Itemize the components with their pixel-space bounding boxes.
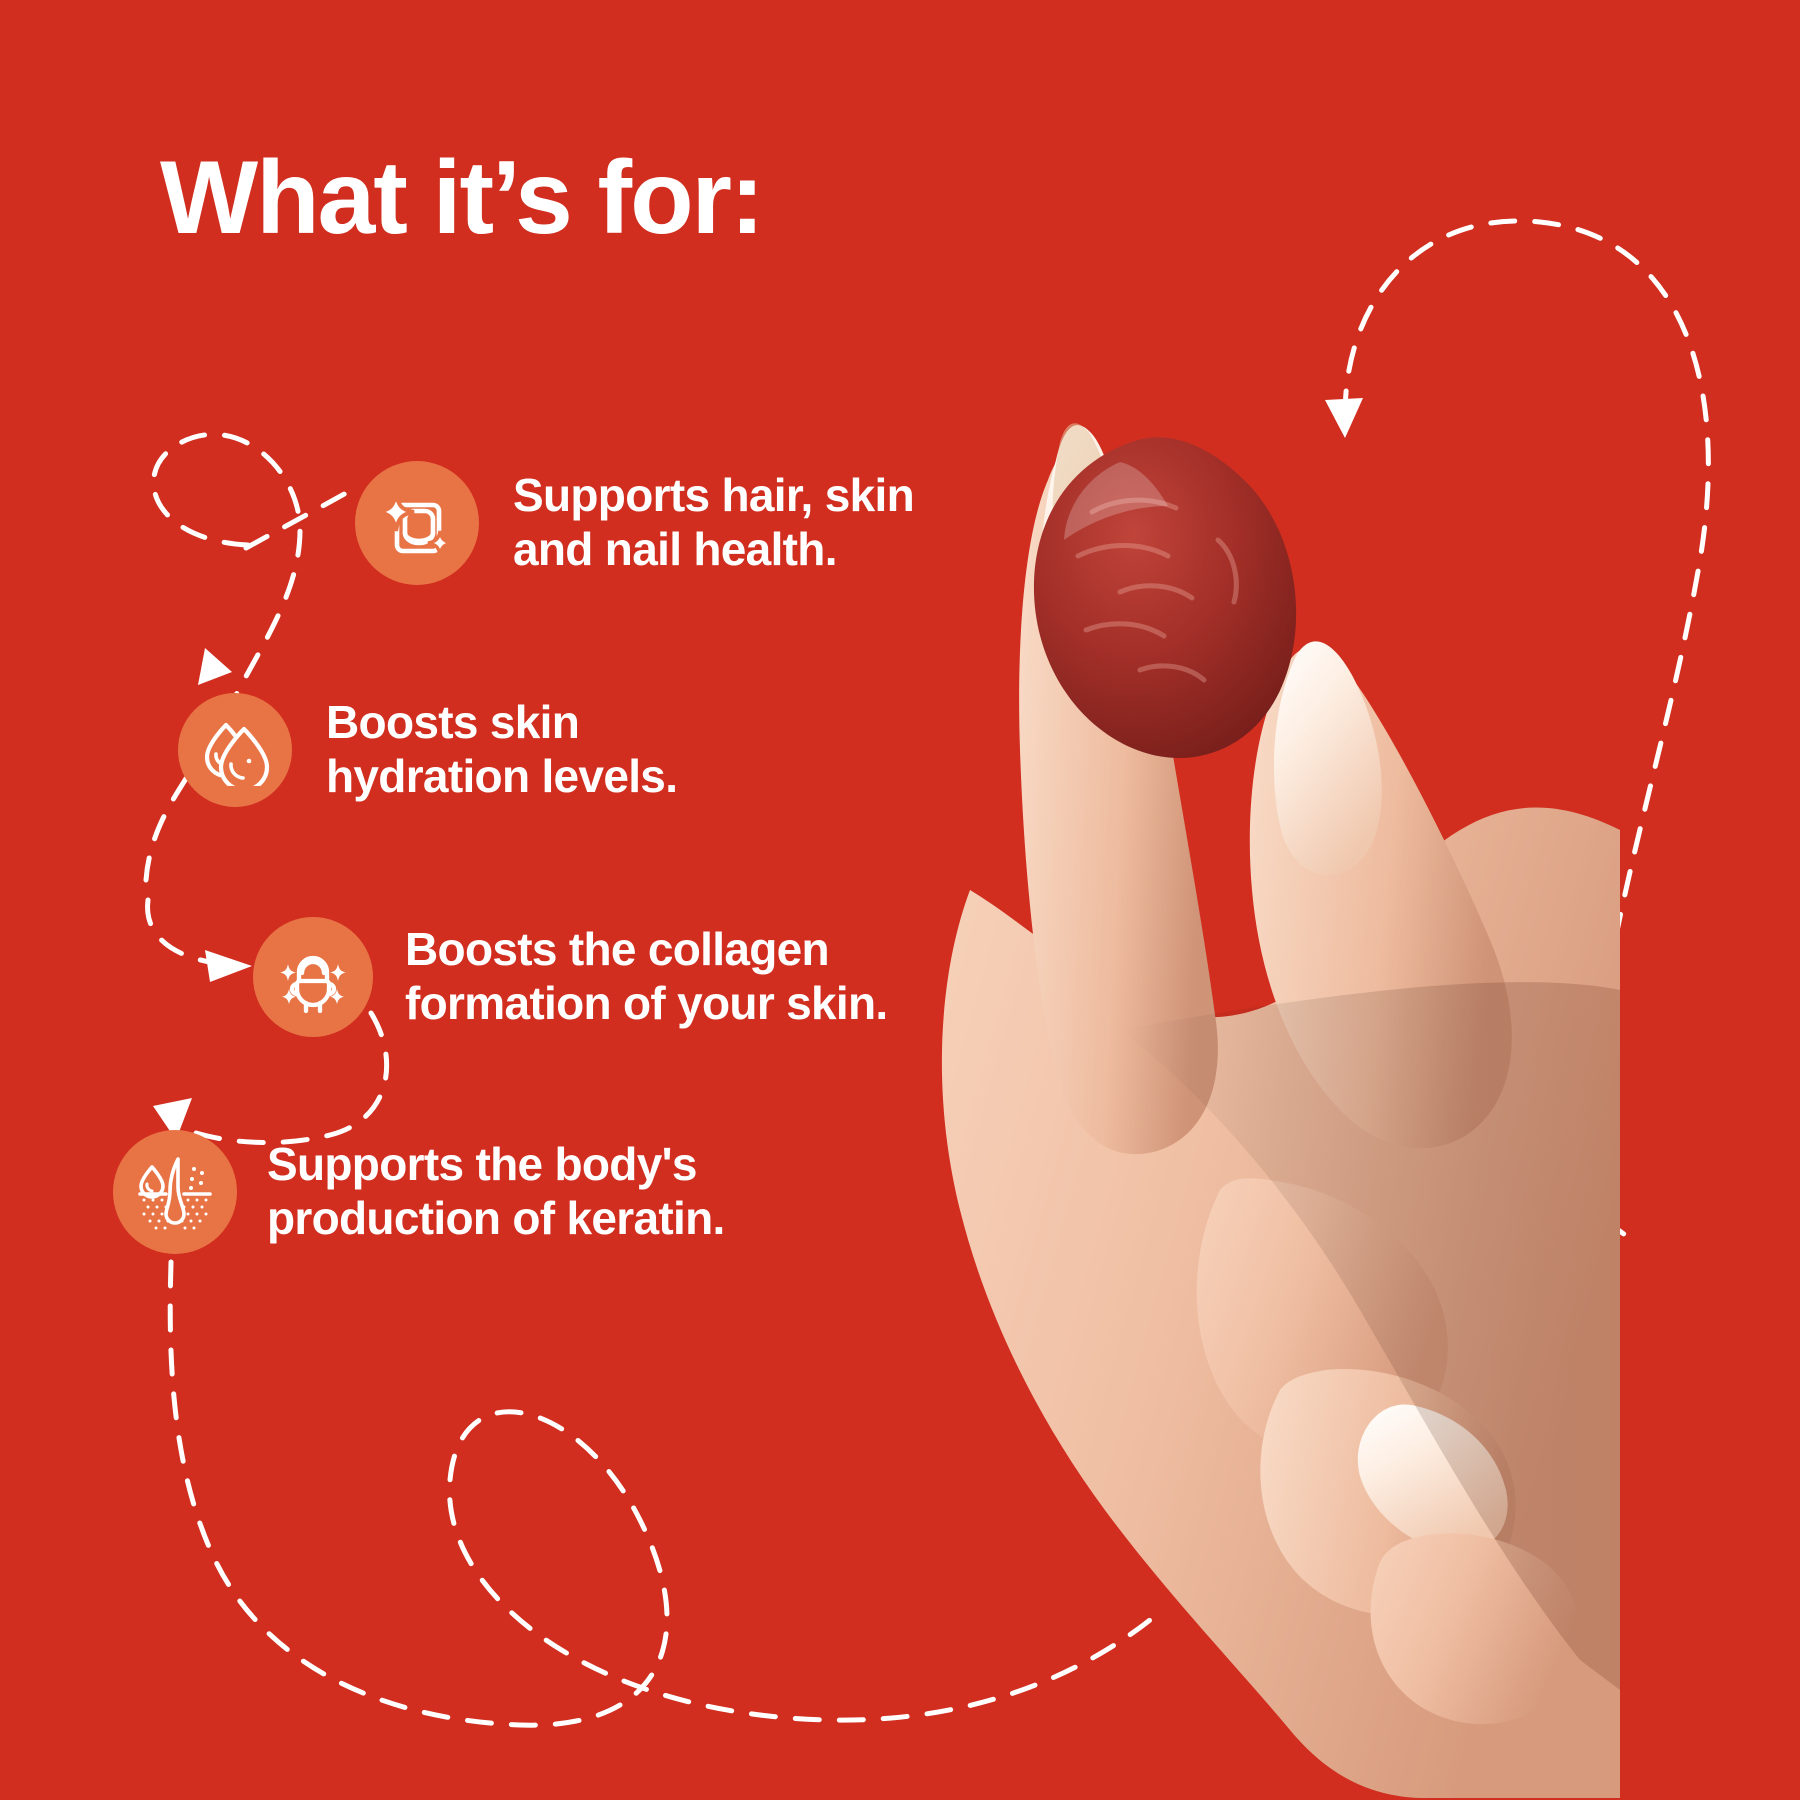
page-title: What it’s for: <box>160 146 763 250</box>
pinky-finger <box>1371 1533 1581 1724</box>
dashed-path-bottom-loop <box>170 1262 1150 1725</box>
sparkle-dots <box>189 1167 204 1190</box>
dashed-connector-lines <box>0 0 1800 1800</box>
feature-label: Supports hair, skin and nail health. <box>513 469 914 577</box>
arrow-head-top-right <box>1325 398 1363 438</box>
feature-label: Boosts skin hydration levels. <box>326 696 677 804</box>
feature-label: Supports the body's production of kerati… <box>267 1138 725 1246</box>
dashed-path-to-icon-3 <box>148 900 215 963</box>
dashed-path-to-icon-1 <box>246 492 348 548</box>
arrow-head-icon-2 <box>198 648 232 685</box>
thumb-nail <box>1274 641 1382 875</box>
ring-fingernail <box>1358 1405 1508 1553</box>
ring-finger <box>1260 1369 1515 1615</box>
middle-finger <box>1197 1178 1448 1461</box>
feature-label: Boosts the collagen formation of your sk… <box>405 923 888 1031</box>
red-gummy-supplement <box>1034 437 1296 758</box>
hair-follicle-icon <box>113 1130 237 1254</box>
feature-row: Supports the body's production of kerati… <box>113 1130 725 1254</box>
nail-sparkle-icon <box>355 461 479 585</box>
dermis-dots <box>143 1199 208 1230</box>
index-fingernail <box>1040 425 1129 679</box>
hand-holding-gummy-photo <box>820 330 1620 1800</box>
sparkles <box>280 964 346 1004</box>
gummy-highlight <box>1064 462 1168 540</box>
sparkle-large <box>379 493 414 531</box>
feature-row: Supports hair, skin and nail health. <box>355 461 914 585</box>
arrow-head-icon-3 <box>205 950 252 982</box>
water-droplets-icon <box>178 693 292 807</box>
thumb <box>1250 647 1512 1148</box>
dashed-path-loop-1 <box>154 434 300 720</box>
index-finger <box>1019 442 1218 1154</box>
face-sparkle-icon <box>253 917 373 1037</box>
dashed-path-right-loop <box>1345 221 1708 1240</box>
marketing-graphic-canvas: What it’s for: Supports hair, skin and n… <box>0 0 1800 1800</box>
feature-row: Boosts skin hydration levels. <box>178 693 677 807</box>
feature-row: Boosts the collagen formation of your sk… <box>253 917 888 1037</box>
hand-palm <box>942 808 1620 1799</box>
hand-shading <box>1120 982 1620 1690</box>
index-nail-tip-shade <box>1053 423 1120 557</box>
